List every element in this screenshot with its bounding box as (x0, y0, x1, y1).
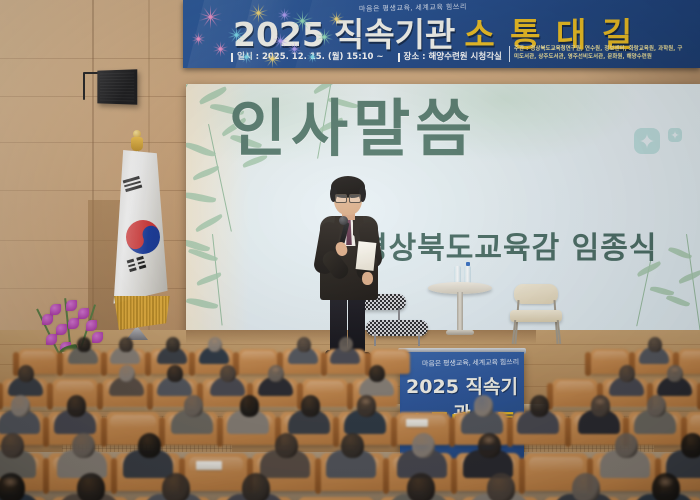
firework-icon (257, 12, 258, 13)
seat-armrest (111, 458, 117, 494)
firework-icon (235, 34, 236, 35)
audience-person-head (619, 365, 635, 383)
speaker-mount (84, 72, 98, 74)
wall-speaker (97, 69, 137, 104)
banner-venue: 장소 : 해양수련원 시청각실 (398, 53, 502, 62)
audience-person-head (119, 365, 135, 383)
head-highlight (360, 397, 372, 406)
seat-armrest (101, 352, 107, 375)
audience-person-head (615, 433, 638, 458)
audience-person-head (572, 473, 600, 500)
audience-person-head (167, 365, 183, 383)
seat-armrest (147, 383, 153, 410)
audience-person-head (77, 473, 105, 500)
audience-person-head (67, 395, 87, 416)
banner-title-white: 직속기관 (334, 18, 455, 51)
audience-person-head (1, 433, 24, 458)
audience-person-head (407, 473, 435, 500)
microphone-head-icon (339, 216, 348, 225)
banner-organizers-line1: 주관 : 경상북도교육청연구원, 연수원, 정보센터, 화랑교육원, 과학원, … (514, 46, 700, 54)
audience-person-head (18, 365, 34, 383)
slide-subtitle: 경상북도교육감 임종식 (360, 234, 657, 264)
event-banner: 마음은 평생교육, 세계교육 힘쓰리 2025 직속기관 소 통 대 길 일시 … (183, 0, 700, 68)
audience-person-head (242, 473, 270, 500)
audience-person-head (474, 395, 494, 416)
seat-armrest (449, 417, 455, 448)
audience-person-head (77, 337, 91, 352)
head-highlight (594, 397, 606, 406)
seat-armrest (101, 417, 107, 448)
flag-fringe (109, 296, 171, 330)
firework-icon (209, 16, 210, 17)
audience-person-head (166, 337, 180, 352)
audience-area (0, 332, 700, 500)
audience-person-head (275, 433, 298, 458)
slide-title: 인사말씀 (229, 98, 477, 160)
seat-name-card (406, 419, 429, 426)
firework-icon (197, 38, 198, 39)
seat-armrest (451, 458, 457, 494)
seat-armrest (43, 417, 49, 448)
paper-notes (356, 241, 377, 271)
audience-person-head (369, 365, 385, 383)
clover-icon-small (668, 128, 682, 142)
seat-name-card (196, 461, 223, 470)
flag-shading (110, 150, 170, 310)
audience-person-head (297, 337, 311, 352)
audience-person-head (162, 473, 190, 500)
firework-icon (245, 56, 246, 57)
flag-finial-icon (129, 130, 145, 152)
banner-organizers: 주관 : 경상북도교육청연구원, 연수원, 정보센터, 화랑교육원, 과학원, … (509, 46, 700, 62)
firework-icon (311, 56, 312, 57)
audience-person-head (184, 395, 204, 416)
eyeglasses-icon (335, 194, 361, 201)
seat-armrest (189, 352, 195, 375)
audience-person-head (648, 337, 662, 352)
firework-icon (283, 14, 284, 15)
audience-person-head (119, 337, 133, 352)
firework-icon (219, 48, 220, 49)
speaker-cable (83, 72, 85, 100)
seat-armrest (145, 352, 151, 375)
clover-icon-large (634, 128, 660, 154)
audience-seat (184, 453, 248, 491)
audience-person-head (72, 433, 95, 458)
firework-icon (335, 18, 336, 19)
firework-icon (279, 40, 280, 41)
audience-person-head (339, 337, 353, 352)
audience-person-head (647, 395, 667, 416)
firework-icon (301, 20, 302, 21)
seat-armrest (47, 383, 53, 410)
seat-armrest (565, 417, 571, 448)
seat-armrest (57, 352, 63, 375)
audience-person-head (341, 433, 364, 458)
seat-armrest (321, 352, 327, 375)
seat-armrest (519, 458, 525, 494)
firework-icon (323, 36, 324, 37)
audience-person-head (220, 365, 236, 383)
audience-person-head (138, 433, 161, 458)
audience-person-head (681, 433, 700, 458)
seat-armrest (217, 417, 223, 448)
banner-organizers-line2: 미도서관, 상주도서관, 영주선비도서관, 문화원, 해양수련원 (514, 54, 700, 62)
audience-person-head (412, 433, 435, 458)
audience-person-head (301, 395, 321, 416)
audience-person-head (530, 395, 550, 416)
seat-armrest (347, 383, 353, 410)
seat-armrest (383, 458, 389, 494)
seat-armrest (333, 417, 339, 448)
audience-person-head (487, 473, 515, 500)
audience-person-head (11, 395, 31, 416)
seat-armrest (0, 383, 3, 410)
photo-scene: 마음은 평생교육, 세계교육 힘쓰리 2025 직속기관 소 통 대 길 일시 … (0, 0, 700, 500)
audience-person-head (240, 395, 260, 416)
seat-armrest (43, 458, 49, 494)
firework-icon (271, 58, 272, 59)
bamboo-sprig-left-bottom (186, 234, 296, 342)
seat-armrest (507, 417, 513, 448)
firework-icon (293, 48, 294, 49)
seat-armrest (315, 458, 321, 494)
seat-armrest (97, 383, 103, 410)
seat-armrest (585, 352, 591, 375)
seat-armrest (391, 417, 397, 448)
